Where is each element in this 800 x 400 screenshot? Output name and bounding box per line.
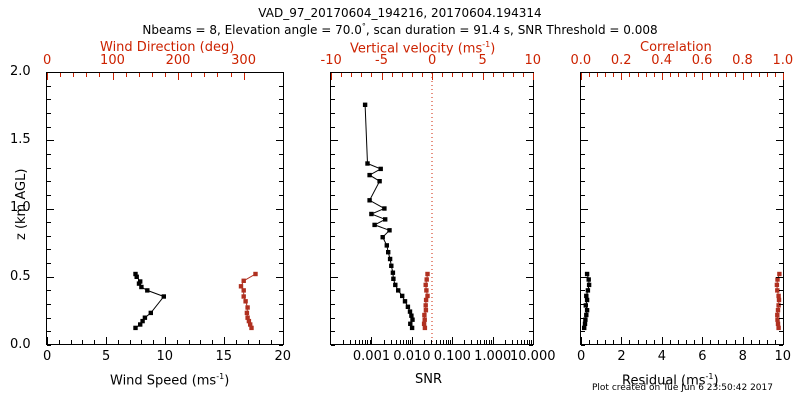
x-tick-label-top: -10 bbox=[321, 53, 342, 68]
x-tick-bottom-minor bbox=[743, 340, 744, 344]
x-tick-top-minor bbox=[775, 73, 776, 77]
x-tick-label-bottom: 4 bbox=[658, 349, 666, 364]
y-tick-minor-right bbox=[279, 86, 283, 87]
x-tick-bottom-minor bbox=[477, 340, 478, 344]
x-tick-label-top: 0 bbox=[428, 53, 436, 68]
y-tick-minor bbox=[581, 127, 585, 128]
y-tick-minor-right bbox=[779, 140, 783, 141]
x-tick-bottom-minor bbox=[362, 340, 363, 344]
y-tick-minor bbox=[331, 331, 335, 332]
data-point bbox=[425, 277, 429, 281]
y-tick-minor-right bbox=[279, 345, 283, 346]
x-tick-top-minor bbox=[47, 73, 48, 77]
y-tick-minor bbox=[331, 222, 335, 223]
x-tick-bottom-minor bbox=[343, 340, 344, 344]
y-tick-minor-right bbox=[779, 331, 783, 332]
data-point bbox=[585, 308, 589, 312]
x-tick-bottom-minor bbox=[605, 340, 606, 344]
y-tick-minor bbox=[47, 209, 51, 210]
y-tick-minor bbox=[47, 304, 51, 305]
y-tick-minor-right bbox=[279, 290, 283, 291]
y-tick-minor bbox=[331, 168, 335, 169]
y-tick-minor-right bbox=[529, 236, 533, 237]
x-tick-top-minor bbox=[382, 73, 383, 77]
x-tick-bottom-minor bbox=[271, 340, 272, 344]
x-tick-top-minor bbox=[767, 73, 768, 77]
panel-residual-correlation bbox=[580, 72, 784, 345]
y-tick-minor-right bbox=[279, 249, 283, 250]
x-tick-bottom-minor bbox=[524, 340, 525, 344]
x-tick-bottom-minor bbox=[517, 340, 518, 344]
x-tick-top-minor bbox=[629, 73, 630, 77]
x-tick-top-minor bbox=[412, 73, 413, 77]
subtitle-post: , scan duration = 91.4 s, SNR Threshold … bbox=[366, 23, 658, 37]
x-tick-top-minor bbox=[422, 73, 423, 77]
x-tick-top-minor bbox=[621, 73, 622, 77]
x-tick-label-bottom: 0.010 bbox=[393, 349, 430, 364]
x-tick-label-top: 1.0 bbox=[773, 53, 794, 68]
x-tick-bottom-major bbox=[412, 337, 413, 344]
x-tick-top-minor bbox=[646, 73, 647, 77]
x-tick-top-minor bbox=[442, 73, 443, 77]
data-point bbox=[162, 294, 166, 298]
y-tick-minor-right bbox=[279, 222, 283, 223]
y-tick-minor bbox=[47, 318, 51, 319]
x-tick-top-minor bbox=[662, 73, 663, 77]
x-tick-label-top: 300 bbox=[231, 53, 256, 68]
data-point bbox=[585, 298, 589, 302]
y-tick-minor-right bbox=[529, 113, 533, 114]
y-tick-minor bbox=[581, 209, 585, 210]
y-tick-minor bbox=[47, 331, 51, 332]
data-point bbox=[424, 303, 428, 307]
x-tick-top-minor bbox=[783, 73, 784, 77]
y-tick-minor bbox=[331, 72, 335, 73]
x-tick-bottom-minor bbox=[355, 340, 356, 344]
x-tick-top-minor bbox=[126, 73, 127, 77]
x-tick-bottom-minor bbox=[450, 340, 451, 344]
axis-title-wind-speed: Wind Speed (ms-1) bbox=[110, 372, 229, 388]
data-point bbox=[775, 277, 779, 281]
data-point bbox=[583, 322, 587, 326]
y-tick-1.0: 1.0 bbox=[10, 200, 31, 215]
x-tick-label-bottom: 0 bbox=[577, 349, 585, 364]
y-tick-minor-right bbox=[779, 168, 783, 169]
y-tick-minor bbox=[47, 195, 51, 196]
data-point bbox=[389, 264, 393, 268]
y-tick-minor-right bbox=[279, 236, 283, 237]
data-point bbox=[242, 288, 246, 292]
axis-title-wind-speed-text: Wind Speed (ms bbox=[110, 373, 216, 388]
x-tick-bottom-minor bbox=[141, 340, 142, 344]
x-tick-top-minor bbox=[718, 73, 719, 77]
x-tick-label-top: 0.2 bbox=[611, 53, 632, 68]
x-tick-bottom-major bbox=[493, 337, 494, 344]
x-tick-top-minor bbox=[113, 73, 114, 77]
x-tick-bottom-minor bbox=[436, 340, 437, 344]
x-tick-label-bottom: 0.100 bbox=[434, 349, 471, 364]
x-tick-bottom-minor bbox=[431, 340, 432, 344]
x-tick-top-minor bbox=[165, 73, 166, 77]
x-tick-bottom-major bbox=[452, 337, 453, 344]
x-tick-top-minor bbox=[670, 73, 671, 77]
data-point bbox=[245, 305, 249, 309]
data-point bbox=[242, 279, 246, 283]
y-tick-minor bbox=[47, 127, 51, 128]
x-tick-top-minor bbox=[710, 73, 711, 77]
y-tick-minor-right bbox=[529, 72, 533, 73]
data-point bbox=[245, 311, 249, 315]
y-tick-minor-right bbox=[279, 277, 283, 278]
x-tick-top-minor bbox=[178, 73, 179, 77]
y-tick-minor-right bbox=[529, 209, 533, 210]
x-tick-top-minor bbox=[139, 73, 140, 77]
x-tick-bottom-minor bbox=[406, 340, 407, 344]
data-point bbox=[369, 212, 373, 216]
data-point bbox=[777, 272, 781, 276]
data-point bbox=[586, 288, 590, 292]
x-tick-bottom-minor bbox=[400, 340, 401, 344]
data-point bbox=[408, 322, 412, 326]
x-tick-bottom-minor bbox=[694, 340, 695, 344]
x-tick-bottom-minor bbox=[629, 340, 630, 344]
data-point bbox=[391, 277, 395, 281]
x-tick-top-minor bbox=[191, 73, 192, 77]
data-point bbox=[396, 288, 400, 292]
y-tick-minor-right bbox=[529, 99, 533, 100]
data-point bbox=[367, 173, 371, 177]
data-point bbox=[587, 283, 591, 287]
data-point bbox=[243, 299, 247, 303]
data-point bbox=[424, 298, 428, 302]
x-tick-label-bottom: 1.000 bbox=[474, 349, 511, 364]
y-tick-minor bbox=[47, 263, 51, 264]
data-point bbox=[776, 294, 780, 298]
y-tick-minor bbox=[581, 331, 585, 332]
x-tick-label-top: 0.8 bbox=[732, 53, 753, 68]
x-tick-label-bottom: 8 bbox=[739, 349, 747, 364]
y-tick-minor bbox=[47, 345, 51, 346]
y-tick-minor bbox=[47, 72, 51, 73]
x-tick-bottom-minor bbox=[621, 340, 622, 344]
x-tick-bottom-minor bbox=[521, 340, 522, 344]
x-tick-label-bottom: 5 bbox=[102, 349, 110, 364]
y-tick-1.5: 1.5 bbox=[10, 132, 31, 147]
y-tick-minor bbox=[47, 249, 51, 250]
x-tick-bottom-minor bbox=[396, 340, 397, 344]
y-tick-minor bbox=[581, 318, 585, 319]
x-tick-top-minor bbox=[392, 73, 393, 77]
y-tick-minor-right bbox=[779, 195, 783, 196]
x-tick-bottom-minor bbox=[471, 340, 472, 344]
data-point bbox=[382, 206, 386, 210]
y-tick-minor-right bbox=[279, 154, 283, 155]
y-tick-minor bbox=[581, 345, 585, 346]
y-tick-2.0: 2.0 bbox=[10, 64, 31, 79]
x-tick-top-minor bbox=[533, 73, 534, 77]
data-point bbox=[424, 308, 428, 312]
y-tick-minor-right bbox=[779, 236, 783, 237]
x-tick-bottom-minor bbox=[686, 340, 687, 344]
x-tick-bottom-minor bbox=[710, 340, 711, 344]
panel-res-plot-area bbox=[581, 73, 783, 344]
x-tick-top-minor bbox=[452, 73, 453, 77]
y-tick-minor-right bbox=[279, 72, 283, 73]
y-tick-minor bbox=[331, 263, 335, 264]
y-tick-minor bbox=[581, 99, 585, 100]
y-tick-0.5: 0.5 bbox=[10, 269, 31, 284]
y-tick-minor-right bbox=[529, 222, 533, 223]
y-tick-minor-right bbox=[779, 86, 783, 87]
data-point bbox=[365, 161, 369, 165]
y-tick-minor-right bbox=[529, 195, 533, 196]
x-tick-top-minor bbox=[462, 73, 463, 77]
plot-subtitle: Nbeams = 8, Elevation angle = 70.0°, sca… bbox=[0, 22, 800, 37]
x-tick-bottom-minor bbox=[751, 340, 752, 344]
y-tick-minor bbox=[331, 127, 335, 128]
x-tick-label-bottom: 0 bbox=[43, 349, 51, 364]
x-tick-bottom-minor bbox=[350, 340, 351, 344]
x-tick-top-minor bbox=[493, 73, 494, 77]
data-point bbox=[239, 284, 243, 288]
axis-title-wind-speed-end: ) bbox=[224, 373, 229, 388]
x-tick-bottom-minor bbox=[59, 340, 60, 344]
y-tick-minor bbox=[581, 236, 585, 237]
x-tick-top-minor bbox=[152, 73, 153, 77]
data-point bbox=[410, 326, 414, 330]
y-tick-minor bbox=[331, 195, 335, 196]
data-point bbox=[775, 313, 779, 317]
data-point bbox=[379, 167, 383, 171]
series-line-snr bbox=[365, 105, 412, 328]
y-tick-minor bbox=[331, 209, 335, 210]
x-tick-bottom-minor bbox=[464, 340, 465, 344]
data-point bbox=[424, 288, 428, 292]
y-tick-minor-right bbox=[529, 154, 533, 155]
y-tick-minor bbox=[581, 263, 585, 264]
x-tick-bottom-minor bbox=[153, 340, 154, 344]
axis-title-vv-text: Vertical velocity (ms bbox=[350, 41, 482, 56]
x-tick-label-top: 10 bbox=[525, 53, 542, 68]
x-tick-bottom-minor bbox=[259, 340, 260, 344]
y-tick-minor bbox=[47, 236, 51, 237]
data-point bbox=[775, 283, 779, 287]
data-point bbox=[383, 217, 387, 221]
data-point bbox=[582, 326, 586, 330]
data-point bbox=[776, 326, 780, 330]
y-tick-minor bbox=[331, 290, 335, 291]
x-tick-top-minor bbox=[432, 73, 433, 77]
data-point bbox=[253, 272, 257, 276]
x-tick-bottom-minor bbox=[165, 340, 166, 344]
axis-title-snr: SNR bbox=[415, 372, 442, 387]
x-tick-label-top: 200 bbox=[166, 53, 191, 68]
y-tick-minor-right bbox=[529, 331, 533, 332]
y-tick-minor-right bbox=[529, 181, 533, 182]
data-point bbox=[424, 283, 428, 287]
x-tick-bottom-minor bbox=[248, 340, 249, 344]
x-tick-bottom-minor bbox=[177, 340, 178, 344]
data-point bbox=[423, 326, 427, 330]
y-tick-minor bbox=[581, 195, 585, 196]
x-tick-bottom-minor bbox=[646, 340, 647, 344]
x-tick-label-bottom: 20 bbox=[275, 349, 292, 364]
y-tick-minor-right bbox=[779, 209, 783, 210]
y-tick-minor-right bbox=[779, 263, 783, 264]
plot-title: VAD_97_20170604_194216, 20170604.194314 bbox=[0, 6, 800, 20]
x-tick-bottom-minor bbox=[759, 340, 760, 344]
x-tick-top-minor bbox=[678, 73, 679, 77]
data-point bbox=[372, 223, 376, 227]
y-tick-minor-right bbox=[779, 249, 783, 250]
y-tick-minor-right bbox=[779, 345, 783, 346]
data-point bbox=[425, 294, 429, 298]
x-tick-bottom-minor bbox=[283, 340, 284, 344]
y-tick-minor bbox=[331, 277, 335, 278]
x-tick-bottom-minor bbox=[410, 340, 411, 344]
x-tick-bottom-minor bbox=[391, 340, 392, 344]
x-tick-top-minor bbox=[743, 73, 744, 77]
y-tick-minor-right bbox=[529, 86, 533, 87]
x-tick-top-minor bbox=[694, 73, 695, 77]
y-tick-minor bbox=[581, 86, 585, 87]
y-tick-minor bbox=[581, 249, 585, 250]
panel-wind-speed-direction bbox=[46, 72, 284, 345]
data-point bbox=[386, 250, 390, 254]
x-tick-top-minor bbox=[73, 73, 74, 77]
data-point bbox=[138, 279, 142, 283]
data-point bbox=[133, 326, 137, 330]
y-tick-minor bbox=[581, 72, 585, 73]
data-point bbox=[776, 322, 780, 326]
x-tick-bottom-minor bbox=[130, 340, 131, 344]
x-tick-bottom-minor bbox=[189, 340, 190, 344]
x-tick-bottom-minor bbox=[726, 340, 727, 344]
axis-title-wind-speed-sup: -1 bbox=[216, 372, 224, 381]
subtitle-pre: Nbeams = 8, Elevation angle = 70.0 bbox=[142, 23, 361, 37]
panel-snr-plot-area bbox=[331, 73, 533, 344]
data-point bbox=[391, 271, 395, 275]
y-tick-minor bbox=[47, 277, 51, 278]
data-point bbox=[584, 313, 588, 317]
y-tick-minor bbox=[47, 168, 51, 169]
y-tick-minor bbox=[331, 86, 335, 87]
y-tick-minor bbox=[331, 249, 335, 250]
x-tick-bottom-minor bbox=[489, 340, 490, 344]
data-point bbox=[143, 316, 147, 320]
y-tick-0.0: 0.0 bbox=[10, 337, 31, 352]
data-point bbox=[367, 198, 371, 202]
x-tick-bottom-minor bbox=[367, 340, 368, 344]
data-point bbox=[149, 311, 153, 315]
x-tick-label-top: -5 bbox=[375, 53, 388, 68]
x-tick-top-minor bbox=[581, 73, 582, 77]
y-tick-minor-right bbox=[279, 263, 283, 264]
data-point bbox=[425, 272, 429, 276]
x-tick-top-minor bbox=[597, 73, 598, 77]
y-tick-minor bbox=[47, 99, 51, 100]
x-tick-bottom-minor bbox=[505, 340, 506, 344]
y-tick-minor-right bbox=[529, 249, 533, 250]
data-point bbox=[406, 305, 410, 309]
x-tick-top-minor bbox=[483, 73, 484, 77]
y-tick-minor-right bbox=[779, 72, 783, 73]
x-tick-bottom-minor bbox=[767, 340, 768, 344]
x-tick-label-bottom: 15 bbox=[216, 349, 233, 364]
data-point bbox=[145, 288, 149, 292]
y-tick-minor-right bbox=[529, 290, 533, 291]
y-tick-minor bbox=[581, 168, 585, 169]
x-tick-bottom-minor bbox=[106, 340, 107, 344]
y-tick-minor-right bbox=[529, 345, 533, 346]
x-tick-top-minor bbox=[361, 73, 362, 77]
y-tick-minor-right bbox=[279, 304, 283, 305]
y-tick-minor-right bbox=[779, 318, 783, 319]
y-tick-minor bbox=[581, 181, 585, 182]
data-point bbox=[242, 294, 246, 298]
x-tick-top-minor bbox=[351, 73, 352, 77]
y-tick-minor-right bbox=[529, 318, 533, 319]
x-tick-bottom-minor bbox=[597, 340, 598, 344]
data-point bbox=[403, 299, 407, 303]
x-tick-top-minor bbox=[60, 73, 61, 77]
y-tick-minor-right bbox=[279, 99, 283, 100]
y-tick-minor-right bbox=[529, 168, 533, 169]
x-tick-bottom-minor bbox=[718, 340, 719, 344]
y-tick-minor bbox=[581, 290, 585, 291]
x-tick-bottom-minor bbox=[224, 340, 225, 344]
data-point bbox=[410, 318, 414, 322]
x-tick-bottom-minor bbox=[236, 340, 237, 344]
x-tick-bottom-minor bbox=[486, 340, 487, 344]
x-tick-top-minor bbox=[654, 73, 655, 77]
x-tick-bottom-minor bbox=[443, 340, 444, 344]
panel-snr-vertical-velocity bbox=[330, 72, 534, 345]
y-tick-minor-right bbox=[279, 181, 283, 182]
x-tick-label-top: 100 bbox=[100, 53, 125, 68]
x-tick-top-minor bbox=[605, 73, 606, 77]
y-tick-minor bbox=[581, 304, 585, 305]
x-tick-label-bottom: 2 bbox=[617, 349, 625, 364]
x-tick-top-minor bbox=[86, 73, 87, 77]
y-tick-minor bbox=[581, 277, 585, 278]
data-point bbox=[422, 322, 426, 326]
x-tick-bottom-minor bbox=[403, 340, 404, 344]
y-tick-minor-right bbox=[529, 304, 533, 305]
x-tick-bottom-minor bbox=[118, 340, 119, 344]
y-tick-minor bbox=[331, 140, 335, 141]
x-tick-top-minor bbox=[523, 73, 524, 77]
data-point bbox=[388, 257, 392, 261]
data-point bbox=[245, 316, 249, 320]
x-tick-bottom-minor bbox=[200, 340, 201, 344]
x-tick-bottom-minor bbox=[82, 340, 83, 344]
x-tick-top-minor bbox=[341, 73, 342, 77]
x-tick-top-minor bbox=[331, 73, 332, 77]
y-tick-minor bbox=[581, 113, 585, 114]
y-tick-minor bbox=[47, 222, 51, 223]
x-tick-top-minor bbox=[503, 73, 504, 77]
data-point bbox=[387, 228, 391, 232]
x-tick-bottom-major bbox=[533, 337, 534, 344]
x-tick-top-minor bbox=[99, 73, 100, 77]
x-tick-bottom-minor bbox=[654, 340, 655, 344]
y-tick-minor bbox=[331, 154, 335, 155]
y-tick-minor-right bbox=[279, 331, 283, 332]
x-tick-bottom-minor bbox=[678, 340, 679, 344]
axis-title-vv-end: ) bbox=[490, 41, 495, 56]
y-tick-minor-right bbox=[279, 209, 283, 210]
